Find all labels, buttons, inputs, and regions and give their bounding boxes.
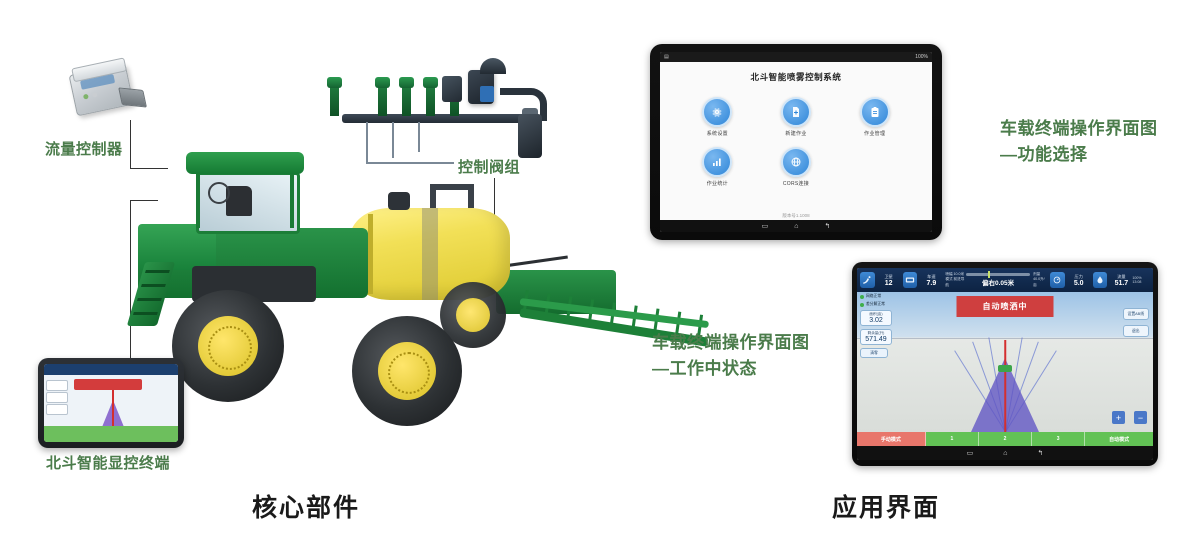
guidance-field-view[interactable]: 自动喷洒中 网络正常 差分解正常 面积(亩) 3.02 [857, 292, 1153, 432]
recents-icon[interactable]: ▭ [762, 222, 769, 230]
bar-chart-icon [702, 147, 732, 177]
dose-value: 40.0升/亩 [1033, 277, 1047, 288]
terminal-icon [903, 272, 918, 288]
android-nav-bar: ▭ ⌂ ↰ [660, 220, 932, 232]
battery-clock-text: 100% 13:08 [1132, 276, 1150, 284]
nav-mode-text: 模式 前进导航 [945, 277, 966, 288]
guidance-indicator: 偏右0.05米 [966, 273, 1030, 287]
speed-value: 7.9 [927, 280, 937, 287]
menu-item-task-statistics[interactable]: 作业统计 [678, 147, 757, 187]
left-info-panel: 网络正常 差分解正常 面积(亩) 3.02 剩余量(升) 571.49 清零 [860, 294, 892, 358]
satellite-label: 卫星 [884, 274, 892, 280]
spray-config-info: 喷幅 10.0米 模式 前进导航 [945, 272, 966, 288]
exit-button[interactable]: 退出 [1123, 325, 1149, 337]
clipboard-icon [860, 97, 890, 127]
working-status-bar: 卫星 12 车速 7.9 喷幅 10.0米 模式 前进导航 偏右0.05米 [857, 268, 1153, 292]
metric-remaining: 剩余量(升) 571.49 [860, 329, 892, 345]
caption-line-1: 车载终端操作界面图 [1000, 116, 1158, 142]
recents-icon[interactable]: ▭ [967, 449, 974, 457]
metric-area: 面积(亩) 3.02 [860, 310, 892, 326]
indicator-network: 网络正常 [860, 294, 892, 299]
guidance-bar [966, 273, 1030, 276]
display-terminal-device [38, 358, 184, 448]
android-nav-bar: ▭ ⌂ ↰ [857, 446, 1153, 460]
slide-root: 流量控制器 控制阀组 [0, 0, 1200, 551]
menu-label: 新建作业 [785, 130, 806, 137]
function-grid: 系统设置 新建作业 作业管理 [660, 97, 932, 187]
spray-status-banner: 自动喷洒中 [957, 296, 1054, 317]
flow-icon [1093, 272, 1108, 288]
display-terminal-label: 北斗智能显控终端 [46, 452, 170, 473]
flow-value-group: 流量 51.7 [1110, 274, 1132, 287]
satellite-icon [860, 272, 875, 288]
status-file-icon: ▤ [664, 54, 669, 60]
menu-label: 作业统计 [707, 180, 728, 187]
vehicle-marker [998, 365, 1012, 372]
back-icon[interactable]: ↰ [1037, 449, 1043, 457]
menu-label: CORS连接 [783, 180, 809, 187]
metric-value: 3.02 [861, 317, 891, 324]
section-1-button[interactable]: 1 [926, 432, 979, 446]
app-title: 北斗智能喷雾控制系统 [660, 71, 932, 83]
status-dot-icon [860, 303, 864, 307]
caption-line-2: —工作中状态 [652, 356, 810, 382]
core-components-panel: 流量控制器 控制阀组 [0, 0, 600, 551]
mode-manual-button[interactable]: 手动模式 [857, 432, 926, 446]
menu-item-new-task[interactable]: 新建作业 [757, 97, 836, 137]
status-dot-icon [860, 295, 864, 299]
menu-item-system-settings[interactable]: 系统设置 [678, 97, 757, 137]
section-2-button[interactable]: 2 [979, 432, 1032, 446]
globe-icon [781, 147, 811, 177]
section-3-button[interactable]: 3 [1032, 432, 1085, 446]
home-icon[interactable]: ⌂ [1003, 450, 1007, 457]
menu-label: 作业管理 [864, 130, 885, 137]
caption-line-2: —功能选择 [1000, 142, 1158, 168]
tablet-function-selection: ▤ 100% 北斗智能喷雾控制系统 系统设置 新建作业 [650, 44, 942, 240]
speed-value-group: 车速 7.9 [920, 274, 942, 287]
indicator-rtk: 差分解正常 [860, 302, 892, 307]
satellite-value: 12 [885, 280, 893, 287]
flow-label: 流量 [1117, 274, 1125, 280]
indicator-label: 网络正常 [866, 294, 881, 299]
new-document-icon [781, 97, 811, 127]
flow-value: 51.7 [1115, 280, 1129, 287]
zoom-stepper: + − [1112, 411, 1147, 424]
pressure-label: 压力 [1075, 274, 1083, 280]
status-battery-text: 100% [915, 54, 928, 60]
menu-label: 系统设置 [707, 130, 728, 137]
mode-auto-button[interactable]: 自动模式 [1085, 432, 1153, 446]
indicator-label: 差分解正常 [866, 302, 885, 307]
menu-item-cors-connection[interactable]: CORS连接 [757, 147, 836, 187]
menu-item-task-management[interactable]: 作业管理 [835, 97, 914, 137]
caption-function-selection: 车载终端操作界面图 —功能选择 [1000, 116, 1158, 167]
settings-icon [702, 97, 732, 127]
caption-line-1: 车载终端操作界面图 [652, 330, 810, 356]
caption-working-state: 车载终端操作界面图 —工作中状态 [652, 330, 810, 381]
zoom-in-button[interactable]: + [1112, 411, 1125, 424]
satellite-count: 卫星 12 [878, 274, 900, 287]
pressure-value-group: 压力 5.0 [1068, 274, 1090, 287]
mode-selection-bar: 手动模式 1 2 3 自动模式 [857, 432, 1153, 446]
speed-label: 车速 [927, 274, 935, 280]
reset-button[interactable]: 清零 [860, 348, 888, 358]
flow-controller-device [67, 54, 143, 122]
android-status-bar: ▤ 100% [660, 52, 932, 62]
section-title-application-ui: 应用界面 [832, 488, 940, 524]
version-text: 版本号1.1008 [660, 213, 932, 219]
back-icon[interactable]: ↰ [824, 222, 830, 230]
zoom-out-button[interactable]: − [1134, 411, 1147, 424]
set-ab-line-button[interactable]: 设置AB线 [1123, 308, 1149, 320]
tablet-working-state: 卫星 12 车速 7.9 喷幅 10.0米 模式 前进导航 偏右0.05米 [852, 262, 1158, 466]
metric-value: 571.49 [861, 336, 891, 343]
section-title-core-components: 核心部件 [252, 488, 360, 524]
right-button-panel: 设置AB线 退出 [1123, 308, 1149, 337]
dose-info: 剂量 40.0升/亩 [1033, 272, 1047, 288]
pressure-value: 5.0 [1074, 280, 1084, 287]
gauge-icon [1050, 272, 1065, 288]
home-icon[interactable]: ⌂ [794, 223, 798, 230]
guidance-offset-text: 偏右0.05米 [982, 277, 1014, 287]
